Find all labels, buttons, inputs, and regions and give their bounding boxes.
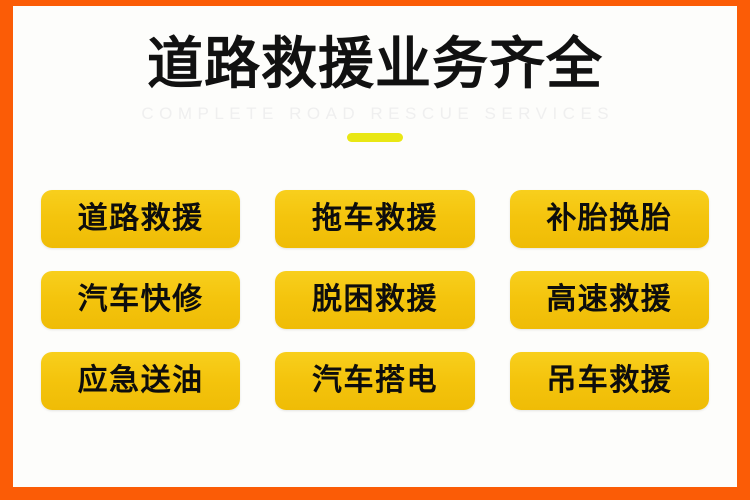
poster-frame: 道路救援业务齐全 COMPLETE ROAD RESCUE SERVICES 道…: [0, 0, 750, 500]
accent-divider: [347, 133, 403, 142]
service-button-quick-repair[interactable]: 汽车快修: [41, 271, 240, 329]
service-button-crane-rescue[interactable]: 吊车救援: [510, 352, 709, 410]
service-button-tire-repair[interactable]: 补胎换胎: [510, 190, 709, 248]
service-button-highway-rescue[interactable]: 高速救援: [510, 271, 709, 329]
service-button-road-rescue[interactable]: 道路救援: [41, 190, 240, 248]
page-subtitle: COMPLETE ROAD RESCUE SERVICES: [13, 93, 737, 122]
service-button-extrication[interactable]: 脱困救援: [275, 271, 474, 329]
service-button-fuel-delivery[interactable]: 应急送油: [41, 352, 240, 410]
poster-header: 道路救援业务齐全 COMPLETE ROAD RESCUE SERVICES: [13, 6, 737, 142]
service-button-jump-start[interactable]: 汽车搭电: [275, 352, 474, 410]
service-button-tow-rescue[interactable]: 拖车救援: [275, 190, 474, 248]
page-title: 道路救援业务齐全: [13, 6, 737, 93]
service-button-grid: 道路救援 拖车救援 补胎换胎 汽车快修 脱困救援 高速救援 应急送油 汽车搭电 …: [41, 190, 709, 410]
poster-canvas: 道路救援业务齐全 COMPLETE ROAD RESCUE SERVICES 道…: [13, 6, 737, 487]
